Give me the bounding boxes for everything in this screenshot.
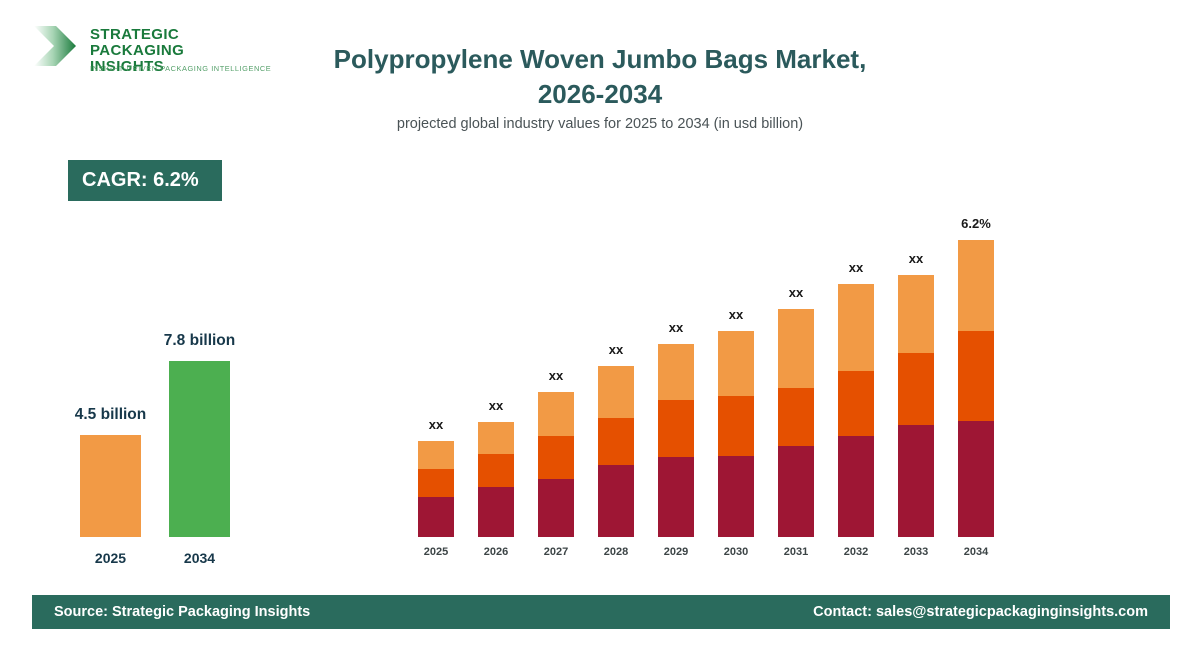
stacked-segment-segment-middle-2031 bbox=[778, 388, 814, 446]
footer-contact: Contact: sales@strategicpackaginginsight… bbox=[813, 604, 1148, 620]
stacked-segment-segment-middle-2027 bbox=[538, 436, 574, 479]
stacked-segment-segment-middle-2029 bbox=[658, 400, 694, 457]
stacked-bar-stack-2027 bbox=[538, 392, 574, 537]
stacked-bar-year-2027: 2027 bbox=[544, 546, 568, 558]
stacked-bar-stack-2031 bbox=[778, 309, 814, 537]
stacked-segment-segment-middle-2026 bbox=[478, 454, 514, 487]
stacked-segment-segment-bottom-2031 bbox=[778, 446, 814, 537]
stacked-segment-segment-top-2033 bbox=[898, 275, 934, 353]
cagr-badge-label: CAGR: 6.2% bbox=[82, 169, 199, 192]
stacked-bar-2025: xx2025 bbox=[418, 200, 454, 560]
stacked-bar-2033: xx2033 bbox=[898, 200, 934, 560]
stacked-segment-segment-bottom-2030 bbox=[718, 456, 754, 537]
stacked-bar-label-2026: xx bbox=[489, 398, 503, 413]
stacked-bar-stack-2034 bbox=[958, 240, 994, 537]
stacked-bar-stack-2028 bbox=[598, 366, 634, 537]
stacked-bar-label-2029: xx bbox=[669, 320, 683, 335]
stacked-segment-segment-top-2027 bbox=[538, 392, 574, 436]
brand-name-line1: STRATEGIC bbox=[90, 27, 179, 43]
brand-tagline: INSIGHT-DRIVEN PACKAGING INTELLIGENCE bbox=[90, 64, 271, 73]
stacked-segment-segment-bottom-2027 bbox=[538, 479, 574, 537]
chevron-right-logo-icon bbox=[32, 22, 80, 70]
cagr-badge: CAGR: 6.2% bbox=[68, 160, 222, 201]
stacked-segment-segment-bottom-2032 bbox=[838, 436, 874, 537]
stacked-segment-segment-top-2026 bbox=[478, 422, 514, 454]
stacked-segment-segment-middle-2030 bbox=[718, 396, 754, 456]
comparison-bar-rect-2025 bbox=[80, 435, 141, 537]
stacked-bar-label-2034: 6.2% bbox=[961, 216, 991, 231]
stacked-bar-year-2029: 2029 bbox=[664, 546, 688, 558]
stacked-bar-year-2031: 2031 bbox=[784, 546, 808, 558]
stacked-bar-stack-2025 bbox=[418, 441, 454, 537]
page-title: Polypropylene Woven Jumbo Bags Market, 2… bbox=[300, 42, 900, 111]
stacked-bar-label-2028: xx bbox=[609, 342, 623, 357]
footer-bar: Source: Strategic Packaging Insights Con… bbox=[32, 595, 1170, 629]
stacked-segment-segment-middle-2032 bbox=[838, 371, 874, 436]
comparison-bar-year-2025: 2025 bbox=[95, 550, 126, 566]
stacked-segment-segment-bottom-2033 bbox=[898, 425, 934, 537]
comparison-bar-value-2025: 4.5 billion bbox=[75, 406, 146, 424]
comparison-bar-2034: 7.8 billion2034 bbox=[169, 361, 230, 537]
stacked-bar-2034: 6.2%2034 bbox=[958, 200, 994, 560]
stacked-bar-stack-2033 bbox=[898, 275, 934, 537]
comparison-bar-rect-2034 bbox=[169, 361, 230, 537]
stacked-segment-segment-middle-2033 bbox=[898, 353, 934, 425]
stacked-bar-stack-2032 bbox=[838, 284, 874, 537]
stacked-bar-label-2025: xx bbox=[429, 417, 443, 432]
stacked-segment-segment-bottom-2026 bbox=[478, 487, 514, 537]
stacked-segment-segment-bottom-2028 bbox=[598, 465, 634, 537]
stacked-segment-segment-top-2030 bbox=[718, 331, 754, 396]
stacked-bar-2026: xx2026 bbox=[478, 200, 514, 560]
stacked-segment-segment-top-2032 bbox=[838, 284, 874, 371]
stacked-bar-stack-2030 bbox=[718, 331, 754, 537]
stacked-bar-2030: xx2030 bbox=[718, 200, 754, 560]
page-subtitle: projected global industry values for 202… bbox=[300, 116, 900, 132]
stacked-bar-2027: xx2027 bbox=[538, 200, 574, 560]
brand-logo: STRATEGIC PACKAGING INSIGHTS INSIGHT-DRI… bbox=[32, 14, 262, 80]
footer-source: Source: Strategic Packaging Insights bbox=[54, 604, 310, 620]
stacked-segment-segment-middle-2025 bbox=[418, 469, 454, 497]
stacked-bar-2028: xx2028 bbox=[598, 200, 634, 560]
comparison-bar-year-2034: 2034 bbox=[184, 550, 215, 566]
stacked-segment-segment-bottom-2029 bbox=[658, 457, 694, 537]
stacked-bar-label-2032: xx bbox=[849, 260, 863, 275]
stacked-segment-segment-top-2031 bbox=[778, 309, 814, 388]
stacked-bar-2029: xx2029 bbox=[658, 200, 694, 560]
stacked-bar-year-2030: 2030 bbox=[724, 546, 748, 558]
stacked-bar-stack-2029 bbox=[658, 344, 694, 537]
stacked-bar-2031: xx2031 bbox=[778, 200, 814, 560]
stacked-segment-segment-middle-2034 bbox=[958, 331, 994, 421]
stacked-bar-label-2033: xx bbox=[909, 251, 923, 266]
stacked-bar-year-2026: 2026 bbox=[484, 546, 508, 558]
stacked-bar-year-2028: 2028 bbox=[604, 546, 628, 558]
stacked-bar-label-2031: xx bbox=[789, 285, 803, 300]
stacked-segment-segment-top-2034 bbox=[958, 240, 994, 331]
stacked-segment-segment-top-2029 bbox=[658, 344, 694, 400]
market-size-comparison-chart: 4.5 billion20257.8 billion2034 bbox=[0, 300, 320, 580]
stacked-bar-label-2027: xx bbox=[549, 368, 563, 383]
comparison-bar-2025: 4.5 billion2025 bbox=[80, 435, 141, 537]
segment-forecast-chart: xx2025xx2026xx2027xx2028xx2029xx2030xx20… bbox=[405, 200, 1015, 560]
stacked-bar-2032: xx2032 bbox=[838, 200, 874, 560]
stacked-bar-year-2034: 2034 bbox=[964, 546, 988, 558]
stacked-segment-segment-middle-2028 bbox=[598, 418, 634, 465]
comparison-bar-value-2034: 7.8 billion bbox=[164, 332, 235, 350]
stacked-segment-segment-bottom-2025 bbox=[418, 497, 454, 537]
stacked-bar-year-2032: 2032 bbox=[844, 546, 868, 558]
stacked-segment-segment-bottom-2034 bbox=[958, 421, 994, 537]
stacked-segment-segment-top-2028 bbox=[598, 366, 634, 418]
stacked-bar-year-2033: 2033 bbox=[904, 546, 928, 558]
stacked-bar-stack-2026 bbox=[478, 422, 514, 537]
stacked-bar-label-2030: xx bbox=[729, 307, 743, 322]
stacked-segment-segment-top-2025 bbox=[418, 441, 454, 469]
stacked-bar-year-2025: 2025 bbox=[424, 546, 448, 558]
